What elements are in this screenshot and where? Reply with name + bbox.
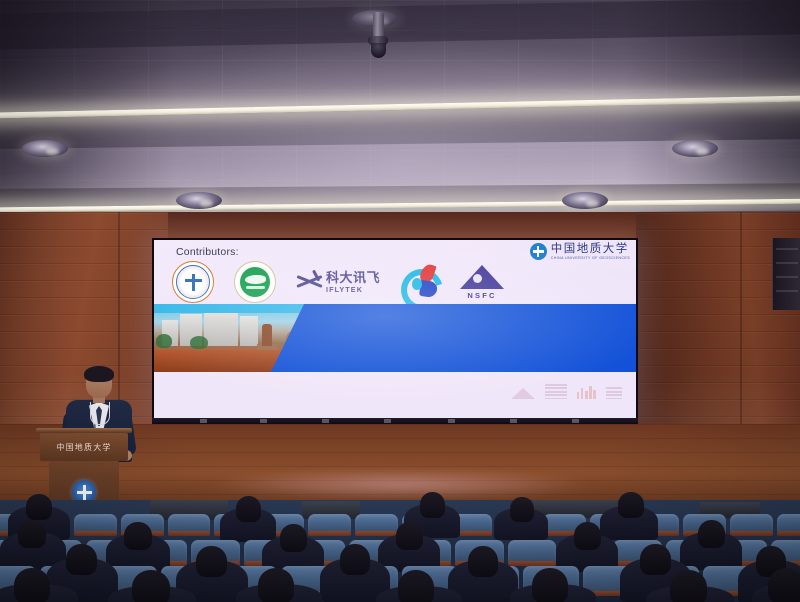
audience-member bbox=[510, 497, 534, 522]
audience-member bbox=[280, 524, 307, 552]
slide-decorative-icons bbox=[511, 384, 622, 399]
mountain-icon bbox=[511, 388, 535, 399]
audience-member bbox=[196, 546, 227, 577]
audience-member bbox=[66, 544, 97, 575]
nsfc-logo-label: NSFC bbox=[467, 291, 496, 300]
presentation-slide: Contributors: 中国地质大学 CHINA UNIVERSITY OF… bbox=[154, 240, 636, 420]
audience-member bbox=[698, 520, 725, 548]
iflytek-logo-en: IFLYTEK bbox=[326, 286, 380, 293]
ceiling bbox=[0, 0, 800, 212]
dome-camera-icon bbox=[366, 12, 390, 64]
slide-accent-stripe bbox=[154, 304, 314, 313]
projection-screen: Contributors: 中国地质大学 CHINA UNIVERSITY OF… bbox=[152, 238, 638, 422]
audience-member bbox=[532, 568, 568, 602]
audience-member bbox=[468, 546, 498, 577]
contributor-logo-row: 科大讯飞 IFLYTEK NSFC bbox=[172, 260, 618, 304]
audience-member bbox=[18, 520, 46, 548]
audience-member bbox=[640, 544, 671, 575]
audience-member bbox=[396, 522, 423, 550]
audience-member bbox=[124, 522, 152, 550]
bar-chart-icon bbox=[577, 386, 596, 399]
audience-member bbox=[768, 568, 800, 602]
audience-member bbox=[398, 570, 434, 602]
audience-member bbox=[618, 492, 644, 518]
audience-member bbox=[14, 568, 50, 602]
wall-speaker-panel bbox=[772, 238, 800, 310]
podium-nameplate: 中国地质大学 bbox=[40, 433, 128, 461]
contributors-label: Contributors: bbox=[176, 246, 239, 258]
recessed-downlight-icon bbox=[176, 192, 222, 209]
cug-brand-cn: 中国地质大学 bbox=[551, 243, 630, 255]
iflytek-logo-icon: 科大讯飞 IFLYTEK bbox=[296, 271, 380, 293]
lines-icon bbox=[545, 384, 567, 399]
audience-member bbox=[574, 522, 601, 550]
audience-member bbox=[132, 570, 170, 602]
podium-nameplate-text: 中国地质大学 bbox=[56, 442, 111, 453]
auditorium-scene: Contributors: 中国地质大学 CHINA UNIVERSITY OF… bbox=[0, 0, 800, 602]
audience-member bbox=[258, 568, 294, 602]
audience-member bbox=[340, 544, 370, 575]
document-icon bbox=[606, 387, 622, 399]
iflytek-logo-cn: 科大讯飞 bbox=[326, 271, 380, 284]
cug-emblem-icon bbox=[530, 243, 547, 260]
audience-member bbox=[236, 496, 261, 522]
audience-seating bbox=[0, 500, 800, 602]
audience-member bbox=[420, 492, 445, 518]
slide-footer bbox=[154, 372, 636, 420]
swirl-droplet-logo-icon bbox=[400, 262, 440, 302]
cug-brand-mark: 中国地质大学 CHINA UNIVERSITY OF GEOSCIENCES bbox=[530, 243, 630, 260]
recessed-downlight-icon bbox=[562, 192, 608, 209]
recessed-downlight-icon bbox=[672, 140, 718, 157]
audience-member bbox=[26, 494, 52, 520]
green-dinosaur-logo-icon bbox=[234, 261, 276, 303]
nsfc-logo-icon: NSFC bbox=[460, 265, 504, 300]
cug-seal-logo-icon bbox=[172, 261, 214, 303]
recessed-downlight-icon bbox=[22, 140, 68, 157]
slide-title-band: “元古大模型”YuanGu 1.0 中国地质大学（武汉）｜2024年12月7日 bbox=[154, 304, 636, 372]
audience-member bbox=[670, 570, 707, 602]
